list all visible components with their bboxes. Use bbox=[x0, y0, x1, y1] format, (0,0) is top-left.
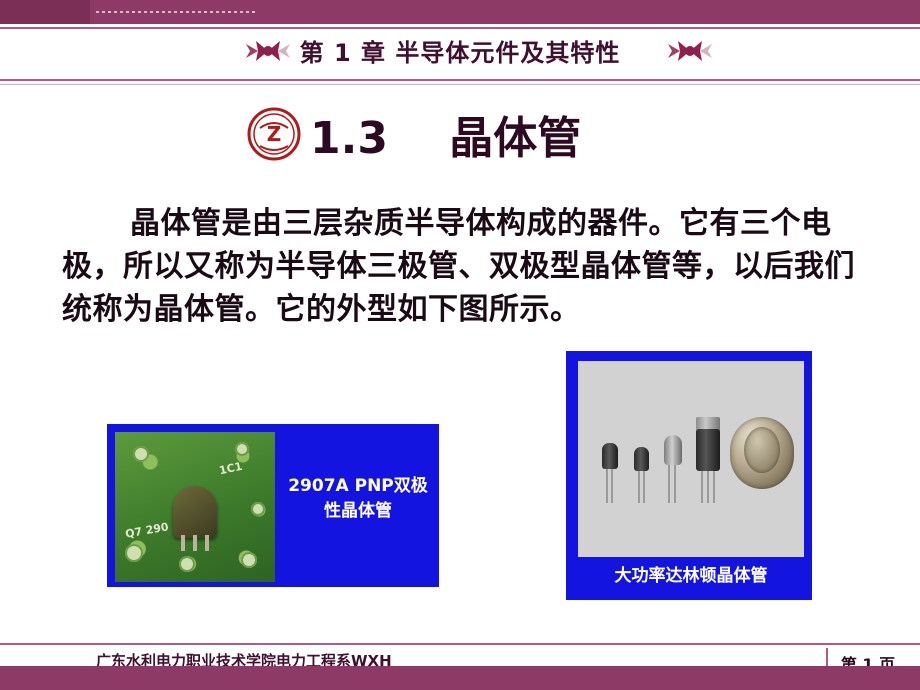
pcb-pad bbox=[125, 544, 143, 562]
pcb-pad bbox=[179, 556, 195, 572]
figure-caption-pcb: 2907A PNP双极性晶体管 bbox=[283, 474, 433, 524]
metal-can-lead bbox=[674, 465, 676, 503]
transistor-component bbox=[173, 486, 217, 538]
metal-can-lead bbox=[668, 465, 670, 503]
transistor-lead bbox=[181, 535, 185, 551]
to220-lead bbox=[707, 471, 709, 503]
to92-lead bbox=[606, 469, 608, 503]
slide: 第 1 章 半导体元件及其特性 Z 1.3 晶体管 晶体管是由三层杂质半导体构成… bbox=[0, 0, 920, 690]
to92-transistor bbox=[602, 443, 618, 469]
to220-lead bbox=[701, 471, 703, 503]
transistor-lead bbox=[193, 535, 197, 551]
chapter-title: 第 1 章 半导体元件及其特性 bbox=[0, 33, 920, 68]
transistor-lead bbox=[205, 535, 209, 551]
pcb-pad bbox=[241, 552, 257, 568]
to220-transistor bbox=[696, 429, 720, 471]
to3-dome bbox=[744, 427, 780, 473]
pcb-pad bbox=[133, 446, 149, 462]
school-seal-icon: Z bbox=[246, 106, 302, 162]
to220-lead bbox=[713, 471, 715, 503]
body-paragraph: 晶体管是由三层杂质半导体构成的器件。它有三个电极，所以又称为半导体三极管、双极型… bbox=[62, 202, 862, 331]
pcb-pad bbox=[235, 442, 249, 456]
figure-pcb-transistor: 1C1 Q7 290 2907A PNP双极性晶体管 bbox=[107, 424, 439, 587]
metal-can-transistor bbox=[664, 435, 682, 465]
footer-purple-bar bbox=[0, 666, 920, 690]
header-dotted-rule bbox=[96, 11, 256, 13]
to92-lead bbox=[638, 471, 640, 503]
header-purple-bar-left-block bbox=[0, 0, 90, 24]
pcb-pad bbox=[251, 502, 265, 516]
transistor-family-photo bbox=[578, 361, 804, 557]
figure-caption-darlington: 大功率达林顿晶体管 bbox=[568, 561, 814, 586]
footer-rule bbox=[0, 643, 920, 645]
figure-darlington-family: 大功率达林顿晶体管 bbox=[566, 351, 812, 600]
header-rule-top bbox=[0, 27, 920, 29]
to92-lead bbox=[643, 471, 645, 503]
header-rule-bottom-thin bbox=[0, 84, 920, 85]
to92-transistor bbox=[634, 447, 649, 471]
pcb-photo: 1C1 Q7 290 bbox=[115, 432, 275, 582]
section-heading: 1.3 晶体管 bbox=[310, 102, 581, 166]
to92-lead bbox=[611, 469, 613, 503]
svg-text:Z: Z bbox=[267, 122, 282, 146]
header-rule-bottom bbox=[0, 79, 920, 81]
